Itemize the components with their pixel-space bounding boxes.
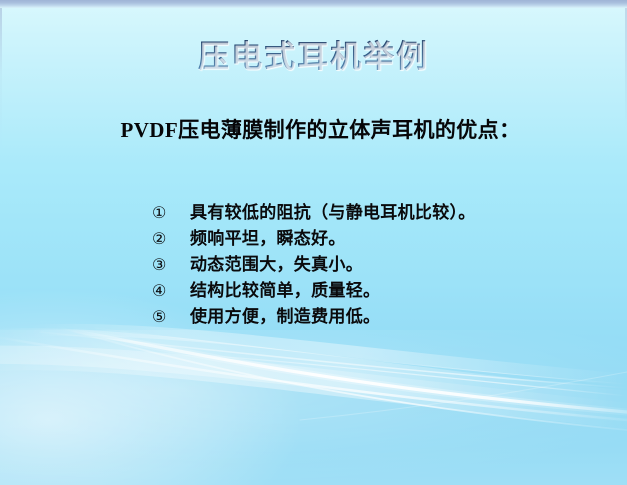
subtitle-text: PVDF压电薄膜制作的立体声耳机的优点： [0,114,627,144]
list-item: ③ 动态范围大，失真小。 [152,252,572,278]
background-glow-band [0,330,627,480]
left-border-edge [0,8,2,485]
list-item-label: 具有较低的阻抗（与静电耳机比较）。 [190,200,572,225]
list-item-label: 动态范围大，失真小。 [190,252,572,277]
list-item-label: 频响平坦，瞬态好。 [190,226,572,251]
advantages-list: ① 具有较低的阻抗（与静电耳机比较）。 ② 频响平坦，瞬态好。 ③ 动态范围大，… [152,200,572,330]
list-item-marker: ① [152,201,190,226]
list-item: ① 具有较低的阻抗（与静电耳机比较）。 [152,200,572,226]
page-title: 压电式耳机举例 [0,38,627,77]
top-border-strip [0,0,627,8]
list-item-marker: ⑤ [152,305,190,330]
list-item-marker: ② [152,227,190,252]
list-item-label: 结构比较简单，质量轻。 [190,278,572,303]
list-item-label: 使用方便，制造费用低。 [190,304,572,329]
slide-canvas: 压电式耳机举例 压电式耳机举例 PVDF压电薄膜制作的立体声耳机的优点： ① 具… [0,0,627,485]
list-item-marker: ④ [152,279,190,304]
list-item: ⑤ 使用方便，制造费用低。 [152,304,572,330]
list-item: ② 频响平坦，瞬态好。 [152,226,572,252]
list-item: ④ 结构比较简单，质量轻。 [152,278,572,304]
list-item-marker: ③ [152,253,190,278]
